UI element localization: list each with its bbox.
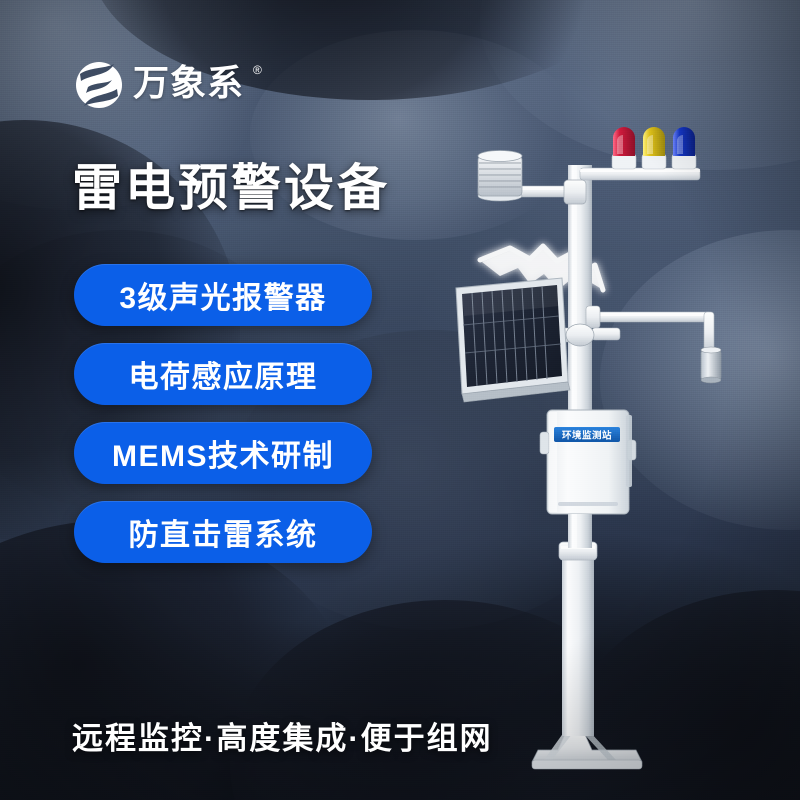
alarm-beacon-yellow bbox=[642, 127, 666, 169]
beacon-crossbar bbox=[580, 168, 700, 180]
radiation-shield-sensor bbox=[478, 151, 522, 202]
brand-logo[interactable]: 万象系 ® bbox=[74, 60, 262, 110]
feature-badge-alarm[interactable]: 3级声光报警器 bbox=[74, 264, 372, 326]
rain-gauge-sensor bbox=[701, 347, 721, 383]
feature-badge-principle[interactable]: 电荷感应原理 bbox=[74, 343, 372, 405]
control-box: 环境监测站 bbox=[540, 410, 636, 514]
solar-panel-mount bbox=[558, 324, 620, 346]
alarm-beacon-blue bbox=[672, 127, 696, 169]
brand-name: 万象系 bbox=[133, 60, 244, 106]
solar-panel bbox=[456, 278, 570, 402]
feature-badge-list: 3级声光报警器 电荷感应原理 MEMS技术研制 防直击雷系统 bbox=[74, 264, 372, 563]
feature-badge-protection[interactable]: 防直击雷系统 bbox=[74, 501, 372, 563]
footer-tagline: 远程监控·高度集成·便于组网 bbox=[72, 713, 493, 758]
feature-badge-technology[interactable]: MEMS技术研制 bbox=[74, 422, 372, 484]
page-title: 雷电预警设备 bbox=[72, 158, 390, 218]
product-poster: 环境监测站 万象系 ® 雷电预警设备 3级声光报警器 电荷感应原理 MEMS技术… bbox=[0, 0, 800, 800]
registered-trademark-mark: ® bbox=[253, 64, 262, 76]
alarm-beacon-red bbox=[612, 127, 636, 169]
product-illustration: 环境监测站 bbox=[440, 110, 770, 790]
swoosh-sphere-logo-icon bbox=[74, 60, 124, 110]
mast-pole-lower bbox=[562, 550, 594, 736]
control-box-label-text: 环境监测站 bbox=[562, 430, 612, 442]
